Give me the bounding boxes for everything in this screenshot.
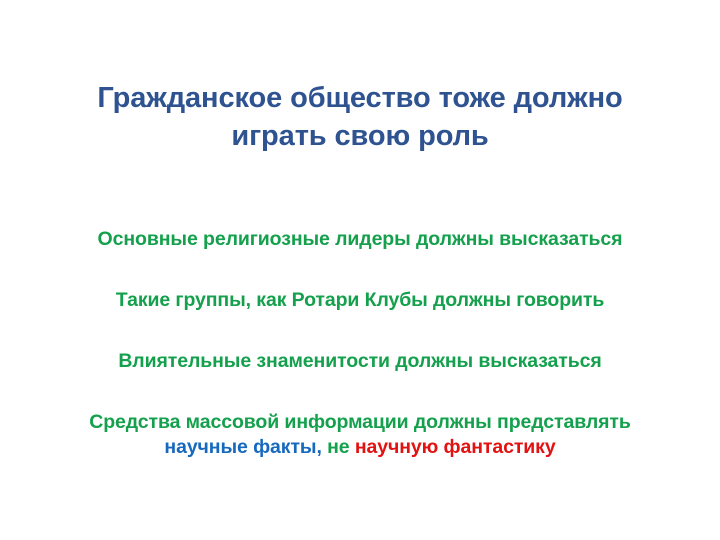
body-paragraph-rotary-clubs: Такие группы, как Ротари Клубы должны го…	[52, 289, 668, 313]
slide-title: Гражданское общество тоже должно играть …	[50, 80, 670, 155]
body-paragraph-mass-media: Средства массовой информации должны пред…	[52, 410, 668, 459]
body-paragraph-religious-leaders: Основные религиозные лидеры должны выска…	[52, 228, 668, 252]
slide-body: Основные религиозные лидеры должны выска…	[52, 228, 668, 459]
body-run-not: не	[322, 436, 355, 458]
slide-canvas: Гражданское общество тоже должно играть …	[0, 0, 720, 540]
body-paragraph-celebrities: Влиятельные знаменитости должны высказат…	[52, 350, 668, 374]
body-run-scientific-facts: научные факты,	[164, 436, 321, 458]
slide-title-text: Гражданское общество тоже должно играть …	[50, 80, 670, 155]
body-run-mass-media-intro: Средства массовой информации должны пред…	[89, 411, 631, 433]
body-run-science-fiction: научную фантастику	[355, 436, 556, 458]
